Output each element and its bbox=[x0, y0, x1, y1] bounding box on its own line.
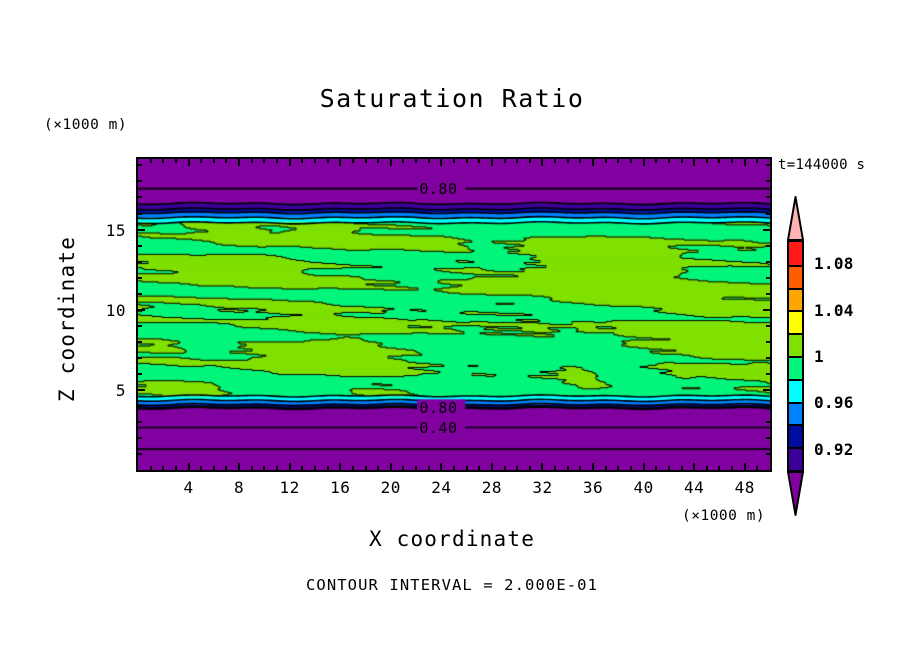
x-minor-tick-mark bbox=[453, 466, 455, 470]
x-tick-mark bbox=[693, 463, 695, 470]
y-tick-mark bbox=[138, 229, 145, 231]
x-minor-tick-mark-top bbox=[377, 159, 379, 163]
x-tick-mark bbox=[390, 463, 392, 470]
contour-interval-caption: CONTOUR INTERVAL = 2.000E-01 bbox=[0, 576, 904, 594]
y-minor-tick-mark bbox=[138, 164, 142, 166]
x-minor-tick-mark-top bbox=[567, 159, 569, 163]
x-minor-tick-mark bbox=[504, 466, 506, 470]
x-minor-tick-mark bbox=[579, 466, 581, 470]
x-minor-tick-mark bbox=[225, 466, 227, 470]
x-minor-tick-mark-top bbox=[352, 159, 354, 163]
x-minor-tick-mark bbox=[668, 466, 670, 470]
y-minor-tick-mark-right bbox=[766, 437, 770, 439]
x-tick-mark bbox=[238, 463, 240, 470]
colorbar-band bbox=[789, 356, 802, 379]
colorbar-band bbox=[789, 447, 802, 470]
x-minor-tick-mark-top bbox=[478, 159, 480, 163]
contour-level-label: 0.40 bbox=[419, 419, 457, 437]
y-minor-tick-mark bbox=[138, 261, 142, 263]
x-minor-tick-mark bbox=[554, 466, 556, 470]
x-tick-label: 36 bbox=[573, 478, 613, 497]
y-minor-tick-mark bbox=[138, 437, 142, 439]
x-minor-tick-mark bbox=[605, 466, 607, 470]
y-minor-tick-mark bbox=[138, 357, 142, 359]
y-minor-tick-mark bbox=[138, 293, 142, 295]
y-tick-mark-right bbox=[763, 229, 770, 231]
x-minor-tick-mark bbox=[162, 466, 164, 470]
x-minor-tick-mark-top bbox=[251, 159, 253, 163]
y-minor-tick-mark-right bbox=[766, 453, 770, 455]
y-minor-tick-mark-right bbox=[766, 421, 770, 423]
x-tick-mark-top bbox=[238, 159, 240, 166]
x-tick-mark bbox=[643, 463, 645, 470]
y-tick-mark bbox=[138, 389, 145, 391]
y-minor-tick-mark bbox=[138, 196, 142, 198]
y-minor-tick-mark bbox=[138, 405, 142, 407]
colorbar-band bbox=[789, 310, 802, 333]
x-minor-tick-mark-top bbox=[579, 159, 581, 163]
x-axis-title: X coordinate bbox=[0, 527, 904, 551]
x-tick-mark-top bbox=[491, 159, 493, 166]
x-minor-tick-mark-top bbox=[162, 159, 164, 163]
x-minor-tick-mark bbox=[327, 466, 329, 470]
x-minor-tick-mark bbox=[466, 466, 468, 470]
colorbar-tick-label: 1.08 bbox=[814, 254, 854, 273]
time-annotation: t=144000 s bbox=[778, 157, 865, 173]
y-minor-tick-mark-right bbox=[766, 245, 770, 247]
x-minor-tick-mark bbox=[681, 466, 683, 470]
x-minor-tick-mark bbox=[251, 466, 253, 470]
y-minor-tick-mark bbox=[138, 245, 142, 247]
x-minor-tick-mark-top bbox=[301, 159, 303, 163]
x-minor-tick-mark bbox=[276, 466, 278, 470]
x-tick-mark bbox=[188, 463, 190, 470]
y-minor-tick-mark-right bbox=[766, 164, 770, 166]
x-minor-tick-mark bbox=[706, 466, 708, 470]
x-minor-tick-mark-top bbox=[402, 159, 404, 163]
y-minor-tick-mark bbox=[138, 213, 142, 215]
x-minor-tick-mark-top bbox=[668, 159, 670, 163]
y-axis-unit-label: (×1000 m) bbox=[44, 117, 127, 133]
x-tick-label: 24 bbox=[421, 478, 461, 497]
y-tick-label: 5 bbox=[86, 381, 126, 400]
x-minor-tick-mark-top bbox=[276, 159, 278, 163]
x-minor-tick-mark-top bbox=[756, 159, 758, 163]
colorbar-band bbox=[789, 333, 802, 356]
contour-level-label: 0.80 bbox=[419, 399, 457, 417]
x-minor-tick-mark bbox=[301, 466, 303, 470]
y-minor-tick-mark-right bbox=[766, 261, 770, 263]
x-minor-tick-mark bbox=[516, 466, 518, 470]
x-tick-mark bbox=[491, 463, 493, 470]
x-minor-tick-mark-top bbox=[466, 159, 468, 163]
x-minor-tick-mark bbox=[402, 466, 404, 470]
x-tick-mark-top bbox=[390, 159, 392, 166]
x-minor-tick-mark-top bbox=[706, 159, 708, 163]
y-minor-tick-mark bbox=[138, 453, 142, 455]
x-tick-label: 40 bbox=[624, 478, 664, 497]
x-minor-tick-mark-top bbox=[554, 159, 556, 163]
colorbar-band bbox=[789, 424, 802, 447]
x-minor-tick-mark-top bbox=[327, 159, 329, 163]
x-tick-label: 8 bbox=[219, 478, 259, 497]
y-minor-tick-mark-right bbox=[766, 196, 770, 198]
contour-level-label: 0.80 bbox=[419, 180, 457, 198]
y-minor-tick-mark-right bbox=[766, 180, 770, 182]
colorbar-band bbox=[789, 402, 802, 425]
x-minor-tick-mark bbox=[478, 466, 480, 470]
colorbar-tick-label: 0.92 bbox=[814, 440, 854, 459]
y-minor-tick-mark-right bbox=[766, 277, 770, 279]
colorbar-band bbox=[789, 379, 802, 402]
x-minor-tick-mark-top bbox=[655, 159, 657, 163]
x-minor-tick-mark bbox=[630, 466, 632, 470]
colorbar-tick-label: 1.04 bbox=[814, 301, 854, 320]
y-minor-tick-mark-right bbox=[766, 405, 770, 407]
x-minor-tick-mark-top bbox=[605, 159, 607, 163]
colorbar-band bbox=[789, 288, 802, 311]
x-minor-tick-mark bbox=[175, 466, 177, 470]
x-tick-label: 48 bbox=[725, 478, 765, 497]
x-minor-tick-mark-top bbox=[731, 159, 733, 163]
x-tick-label: 28 bbox=[472, 478, 512, 497]
x-minor-tick-mark-top bbox=[529, 159, 531, 163]
x-minor-tick-mark-top bbox=[314, 159, 316, 163]
x-tick-mark-top bbox=[188, 159, 190, 166]
x-tick-mark bbox=[440, 463, 442, 470]
x-minor-tick-mark bbox=[213, 466, 215, 470]
y-tick-label: 10 bbox=[86, 301, 126, 320]
x-minor-tick-mark bbox=[150, 466, 152, 470]
y-minor-tick-mark-right bbox=[766, 357, 770, 359]
y-minor-tick-mark-right bbox=[766, 373, 770, 375]
x-tick-label: 4 bbox=[169, 478, 209, 497]
x-tick-mark bbox=[592, 463, 594, 470]
x-minor-tick-mark bbox=[731, 466, 733, 470]
y-tick-label: 15 bbox=[86, 221, 126, 240]
x-minor-tick-mark bbox=[428, 466, 430, 470]
colorbar-band bbox=[789, 265, 802, 288]
x-minor-tick-mark-top bbox=[150, 159, 152, 163]
x-tick-mark-top bbox=[643, 159, 645, 166]
colorbar-bands bbox=[787, 240, 804, 472]
x-minor-tick-mark bbox=[617, 466, 619, 470]
y-tick-mark-right bbox=[763, 389, 770, 391]
x-minor-tick-mark bbox=[377, 466, 379, 470]
colorbar-bottom-arrow-icon bbox=[787, 471, 804, 516]
y-minor-tick-mark-right bbox=[766, 341, 770, 343]
x-tick-mark bbox=[541, 463, 543, 470]
x-minor-tick-mark bbox=[415, 466, 417, 470]
x-minor-tick-mark-top bbox=[428, 159, 430, 163]
x-tick-label: 20 bbox=[371, 478, 411, 497]
y-minor-tick-mark bbox=[138, 421, 142, 423]
x-minor-tick-mark bbox=[200, 466, 202, 470]
x-minor-tick-mark-top bbox=[504, 159, 506, 163]
x-tick-mark bbox=[339, 463, 341, 470]
x-minor-tick-mark-top bbox=[630, 159, 632, 163]
x-tick-mark-top bbox=[339, 159, 341, 166]
x-minor-tick-mark-top bbox=[213, 159, 215, 163]
y-minor-tick-mark-right bbox=[766, 213, 770, 215]
x-minor-tick-mark bbox=[365, 466, 367, 470]
x-tick-mark-top bbox=[541, 159, 543, 166]
x-minor-tick-mark bbox=[314, 466, 316, 470]
x-minor-tick-mark bbox=[718, 466, 720, 470]
x-tick-label: 32 bbox=[522, 478, 562, 497]
y-minor-tick-mark bbox=[138, 325, 142, 327]
y-axis-title: Z coordinate bbox=[55, 219, 79, 419]
x-minor-tick-mark-top bbox=[175, 159, 177, 163]
x-minor-tick-mark-top bbox=[453, 159, 455, 163]
x-tick-label: 12 bbox=[270, 478, 310, 497]
x-tick-label: 16 bbox=[320, 478, 360, 497]
x-minor-tick-mark-top bbox=[516, 159, 518, 163]
x-tick-mark-top bbox=[289, 159, 291, 166]
page-title: Saturation Ratio bbox=[0, 84, 904, 113]
y-minor-tick-mark bbox=[138, 373, 142, 375]
y-tick-mark-right bbox=[763, 309, 770, 311]
x-minor-tick-mark bbox=[756, 466, 758, 470]
x-minor-tick-mark-top bbox=[681, 159, 683, 163]
y-minor-tick-mark-right bbox=[766, 293, 770, 295]
colorbar-tick-label: 0.96 bbox=[814, 393, 854, 412]
x-minor-tick-mark-top bbox=[225, 159, 227, 163]
y-minor-tick-mark bbox=[138, 341, 142, 343]
x-minor-tick-mark bbox=[655, 466, 657, 470]
x-tick-mark-top bbox=[592, 159, 594, 166]
x-tick-label: 44 bbox=[674, 478, 714, 497]
x-tick-mark-top bbox=[744, 159, 746, 166]
x-minor-tick-mark bbox=[529, 466, 531, 470]
y-minor-tick-mark bbox=[138, 277, 142, 279]
x-tick-mark bbox=[744, 463, 746, 470]
y-minor-tick-mark-right bbox=[766, 325, 770, 327]
y-minor-tick-mark bbox=[138, 180, 142, 182]
x-tick-mark bbox=[289, 463, 291, 470]
x-minor-tick-mark bbox=[352, 466, 354, 470]
x-minor-tick-mark-top bbox=[415, 159, 417, 163]
x-minor-tick-mark-top bbox=[263, 159, 265, 163]
x-minor-tick-mark-top bbox=[200, 159, 202, 163]
x-minor-tick-mark-top bbox=[718, 159, 720, 163]
colorbar-top-arrow-icon bbox=[787, 196, 804, 241]
x-minor-tick-mark-top bbox=[617, 159, 619, 163]
x-tick-mark-top bbox=[440, 159, 442, 166]
x-tick-mark-top bbox=[693, 159, 695, 166]
x-minor-tick-mark-top bbox=[365, 159, 367, 163]
x-axis-unit-label: (×1000 m) bbox=[682, 508, 765, 524]
colorbar-tick-label: 1 bbox=[814, 347, 824, 366]
x-minor-tick-mark bbox=[567, 466, 569, 470]
y-tick-mark bbox=[138, 309, 145, 311]
x-minor-tick-mark bbox=[263, 466, 265, 470]
colorbar-band bbox=[789, 242, 802, 265]
